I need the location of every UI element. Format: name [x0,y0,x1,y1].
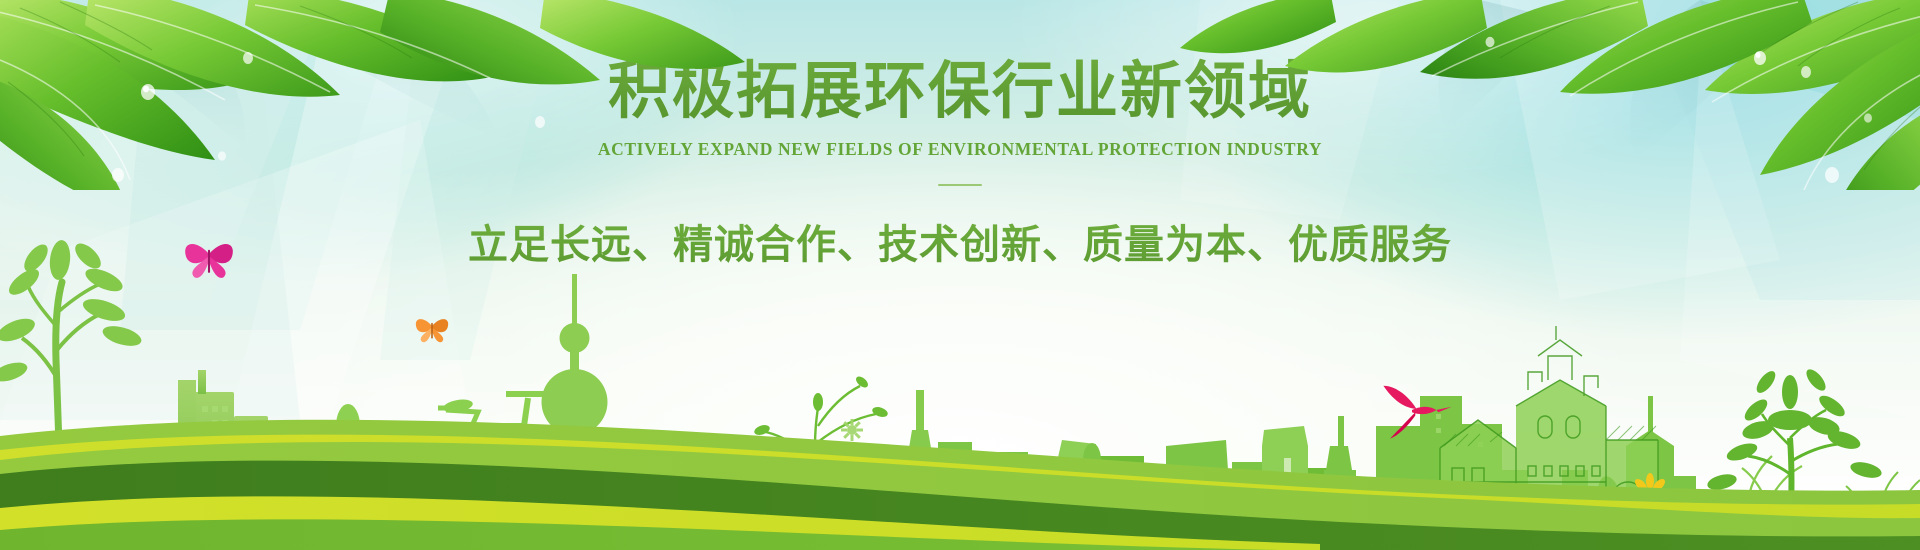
leaf-cluster-left [0,0,745,190]
leaves-border-top [0,0,1920,190]
butterfly-orange [416,319,448,342]
butterfly-pink [185,244,233,278]
wave-bands [0,350,1920,550]
leaf-cluster-right [1180,0,1920,190]
eco-banner: 积极拓展环保行业新领域 ACTIVELY EXPAND NEW FIELDS O… [0,0,1920,550]
